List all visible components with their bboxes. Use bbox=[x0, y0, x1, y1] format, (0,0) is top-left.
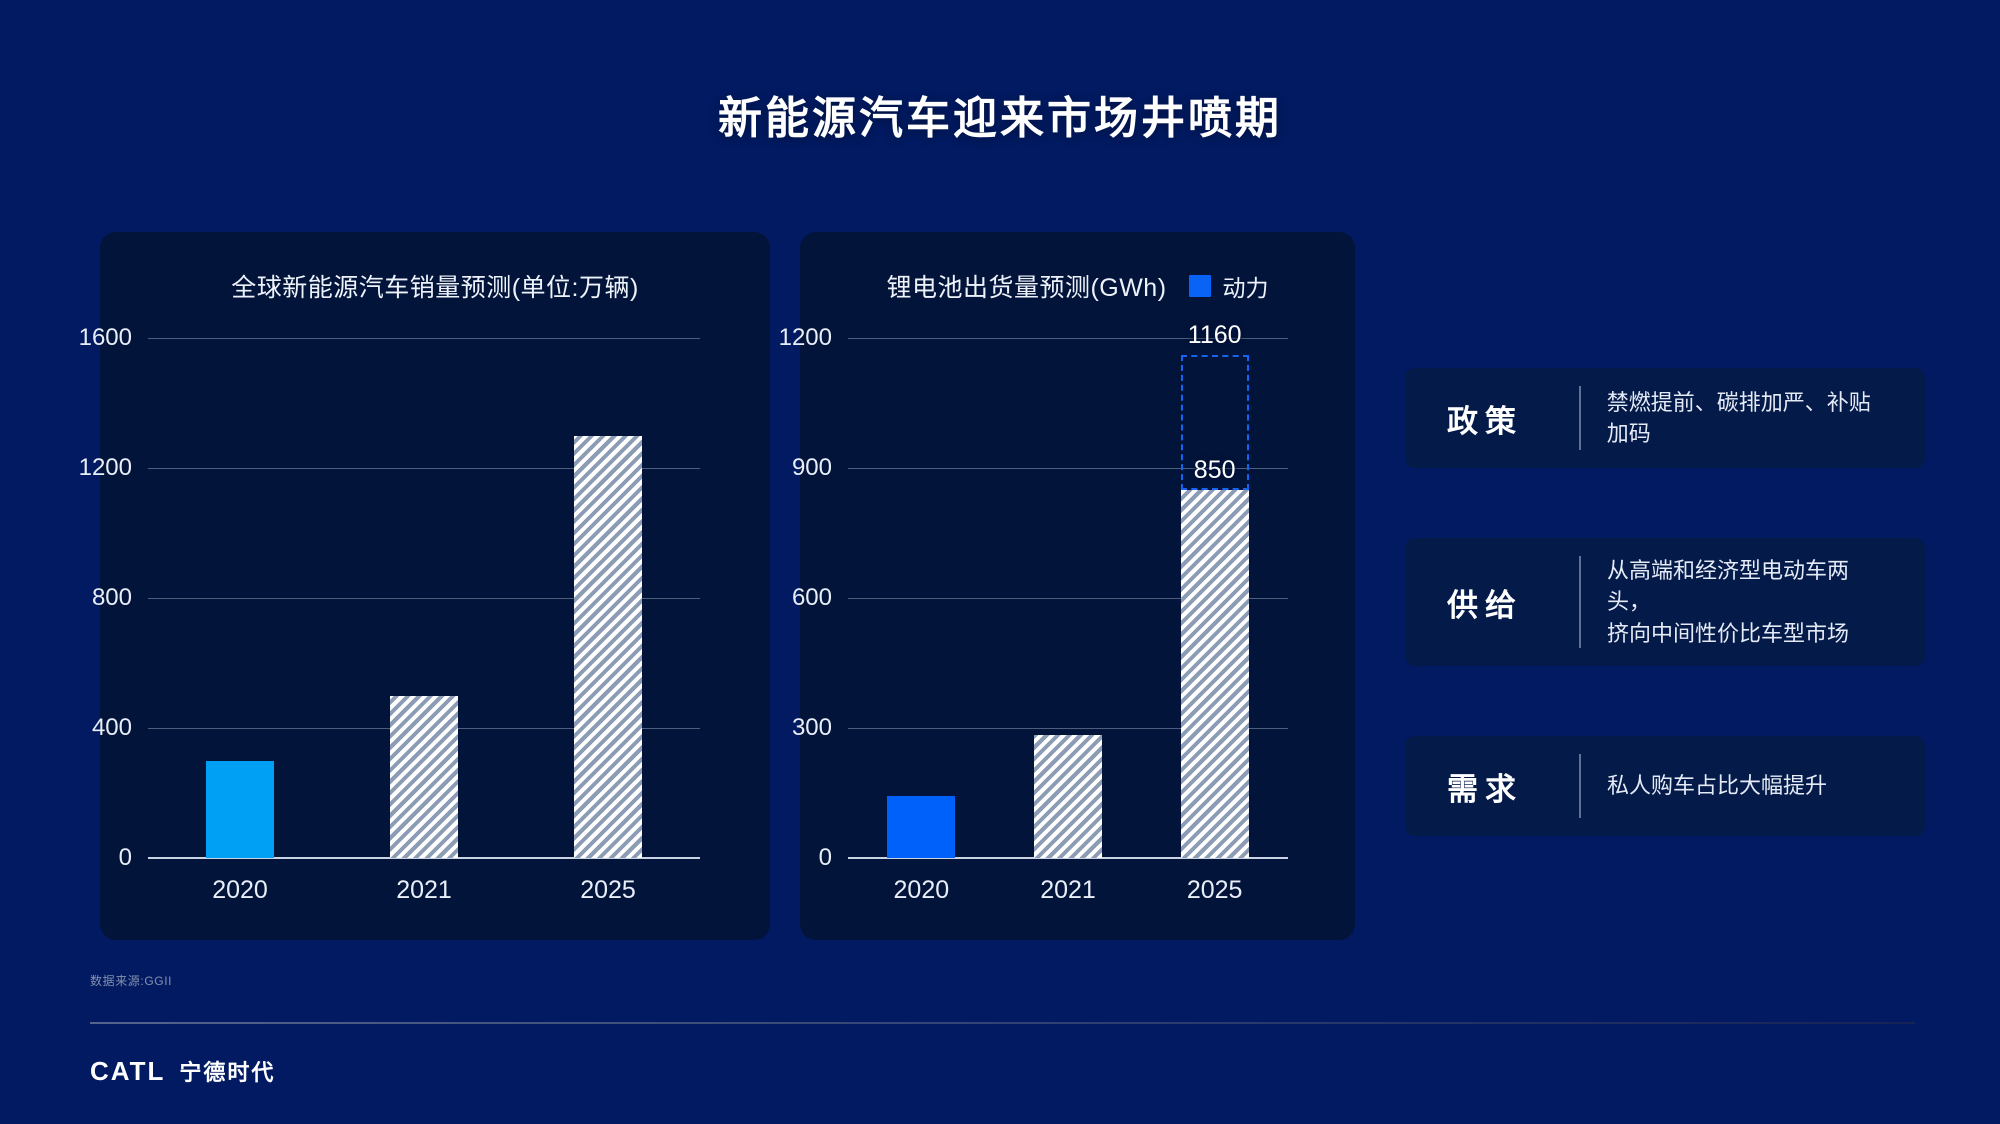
y-axis-tick-label: 1200 bbox=[79, 454, 132, 482]
y-axis-tick-label: 1200 bbox=[779, 324, 832, 352]
y-axis-tick-label: 0 bbox=[119, 844, 132, 872]
data-label-1160: 1160 bbox=[1188, 321, 1242, 350]
footer-divider bbox=[90, 1022, 1915, 1024]
bar-2021 bbox=[390, 696, 458, 859]
x-axis-tick-label: 2025 bbox=[580, 876, 636, 905]
x-axis-tick-label: 2020 bbox=[894, 876, 950, 905]
legend-label-power: 动力 bbox=[1223, 269, 1269, 303]
bar-2025 bbox=[1181, 490, 1249, 858]
chart-legend: 动力 bbox=[1189, 269, 1269, 303]
y-axis-tick-label: 300 bbox=[792, 714, 832, 742]
page-title: 新能源汽车迎来市场井喷期 bbox=[0, 82, 2000, 146]
y-axis-tick-label: 0 bbox=[819, 844, 832, 872]
bar-2020 bbox=[887, 796, 955, 858]
y-axis-tick-label: 600 bbox=[792, 584, 832, 612]
chart-header-right: 锂电池出货量预测(GWh) 动力 bbox=[800, 268, 1355, 304]
info-card-key: 供给 bbox=[1447, 580, 1565, 625]
bar-2020 bbox=[206, 761, 274, 859]
bar-2021 bbox=[1034, 735, 1102, 858]
bar-2025 bbox=[574, 436, 642, 859]
info-card-policy[interactable]: 政策 禁燃提前、碳排加严、补贴加码 bbox=[1405, 368, 1925, 468]
x-axis-tick-label: 2021 bbox=[1040, 876, 1096, 905]
info-card-demand[interactable]: 需求 私人购车占比大幅提升 bbox=[1405, 736, 1925, 836]
chart-title-battery-shipments: 锂电池出货量预测(GWh) bbox=[886, 268, 1166, 304]
chart-title-ev-sales: 全球新能源汽车销量预测(单位:万辆) bbox=[231, 268, 639, 304]
source-note: 数据来源:GGII bbox=[90, 972, 172, 989]
info-card-key: 政策 bbox=[1447, 396, 1565, 441]
x-axis-tick-label: 2020 bbox=[212, 876, 268, 905]
divider bbox=[1579, 556, 1581, 648]
info-card-supply[interactable]: 供给 从高端和经济型电动车两头，挤向中间性价比车型市场 bbox=[1405, 538, 1925, 666]
divider bbox=[1579, 386, 1581, 450]
brand-latin-text: CATL bbox=[90, 1056, 165, 1087]
info-card-key: 需求 bbox=[1447, 764, 1565, 809]
y-axis-tick-label: 400 bbox=[92, 714, 132, 742]
plot-area-ev-sales: 040080012001600202020212025 bbox=[148, 338, 700, 858]
slide-root: 新能源汽车迎来市场井喷期 全球新能源汽车销量预测(单位:万辆) 04008001… bbox=[0, 0, 2000, 1124]
plot-area-battery-shipments: 030060090012002020202120251160850 bbox=[848, 338, 1288, 858]
gridline bbox=[148, 338, 700, 339]
brand-logo: CATL 宁德时代 bbox=[90, 1055, 275, 1087]
info-card-desc: 从高端和经济型电动车两头，挤向中间性价比车型市场 bbox=[1607, 555, 1883, 649]
x-axis-tick-label: 2021 bbox=[396, 876, 452, 905]
legend-swatch-icon bbox=[1189, 275, 1211, 297]
x-axis-tick-label: 2025 bbox=[1187, 876, 1243, 905]
brand-chinese-text: 宁德时代 bbox=[179, 1055, 275, 1087]
info-card-desc: 私人购车占比大幅提升 bbox=[1607, 770, 1827, 801]
y-axis-tick-label: 1600 bbox=[79, 324, 132, 352]
data-label-850: 850 bbox=[1194, 456, 1236, 485]
divider bbox=[1579, 754, 1581, 818]
y-axis-tick-label: 900 bbox=[792, 454, 832, 482]
y-axis-tick-label: 800 bbox=[92, 584, 132, 612]
chart-header-left: 全球新能源汽车销量预测(单位:万辆) bbox=[100, 268, 770, 304]
info-card-desc: 禁燃提前、碳排加严、补贴加码 bbox=[1607, 387, 1883, 449]
